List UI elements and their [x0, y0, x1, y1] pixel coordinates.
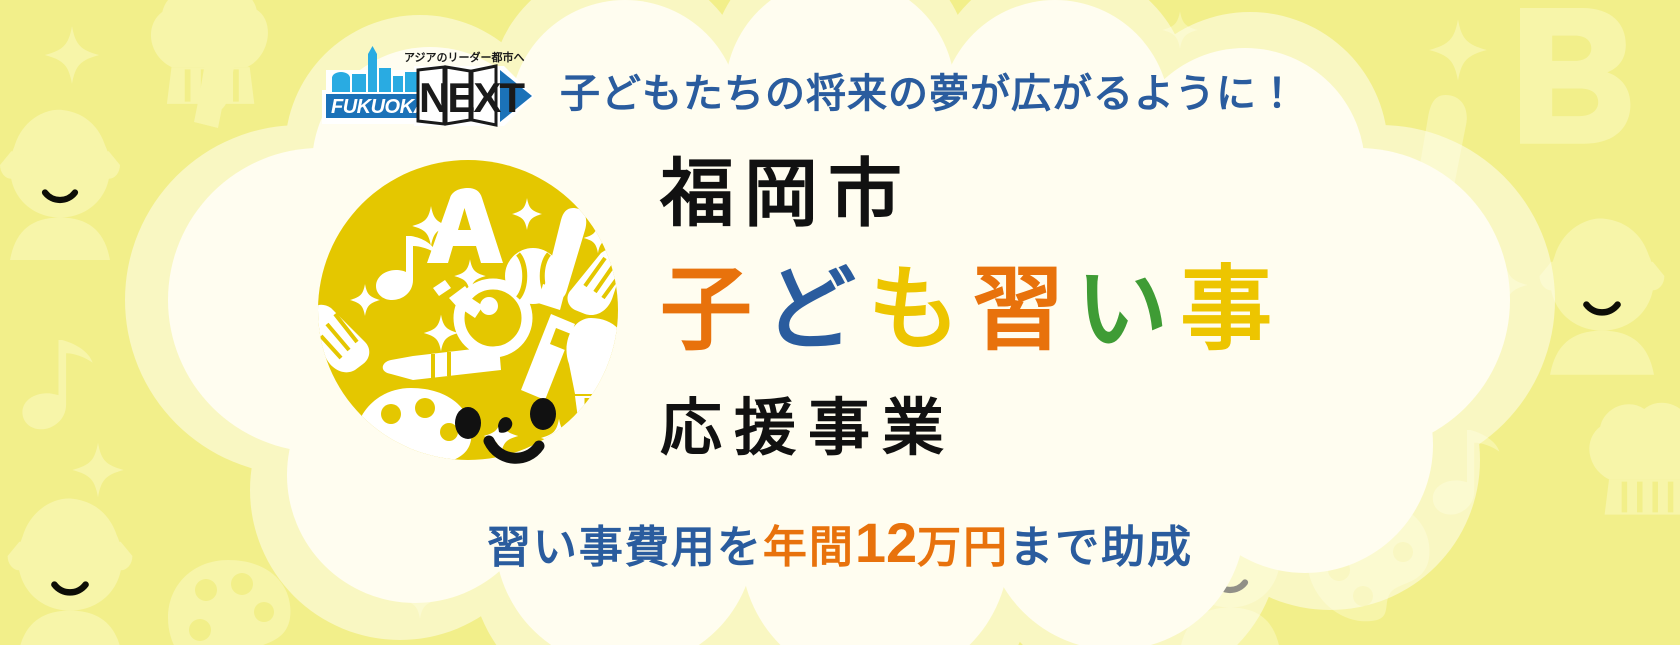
content-layer: FUKUOKA NEXT アジアのリーダー都市へ 子どもたちの将来の夢が広がるよ… — [0, 0, 1680, 645]
next-panels: NEXT — [418, 66, 525, 125]
subsidy-note: 習い事費用を年間12万円まで助成 — [0, 512, 1680, 579]
subsidy-period: 年間 — [763, 523, 855, 572]
banner-root: FUKUOKA NEXT アジアのリーダー都市へ 子どもたちの将来の夢が広がるよ… — [0, 0, 1680, 645]
page-title-sub: 応援事業 — [660, 392, 956, 466]
subsidy-amount: 12 — [855, 511, 917, 574]
mascot-illustration — [313, 158, 623, 466]
title-char-do: ど — [764, 255, 868, 365]
title-char-ko: 子 — [660, 255, 764, 365]
fukuoka-next-logo[interactable]: FUKUOKA NEXT アジアのリーダー都市へ — [318, 46, 538, 128]
title-char-nara: 習 — [972, 255, 1076, 365]
subsidy-unit: 万円 — [917, 523, 1009, 572]
logo-small-text: アジアのリーダー都市へ — [404, 50, 525, 64]
title-char-mo: も — [868, 255, 972, 365]
svg-text:FUKUOKA: FUKUOKA — [331, 96, 428, 118]
subsidy-trail: まで助成 — [1009, 523, 1193, 572]
svg-text:NEXT: NEXT — [419, 74, 525, 121]
title-char-goto: 事 — [1180, 255, 1284, 365]
tagline: 子どもたちの将来の夢が広がるように！ — [560, 66, 1260, 122]
title-char-i: い — [1076, 255, 1180, 365]
page-title-main: 子ども習い事 — [660, 255, 1284, 365]
page-title-city: 福岡市 — [660, 152, 912, 236]
subsidy-lead: 習い事費用を — [487, 523, 763, 572]
